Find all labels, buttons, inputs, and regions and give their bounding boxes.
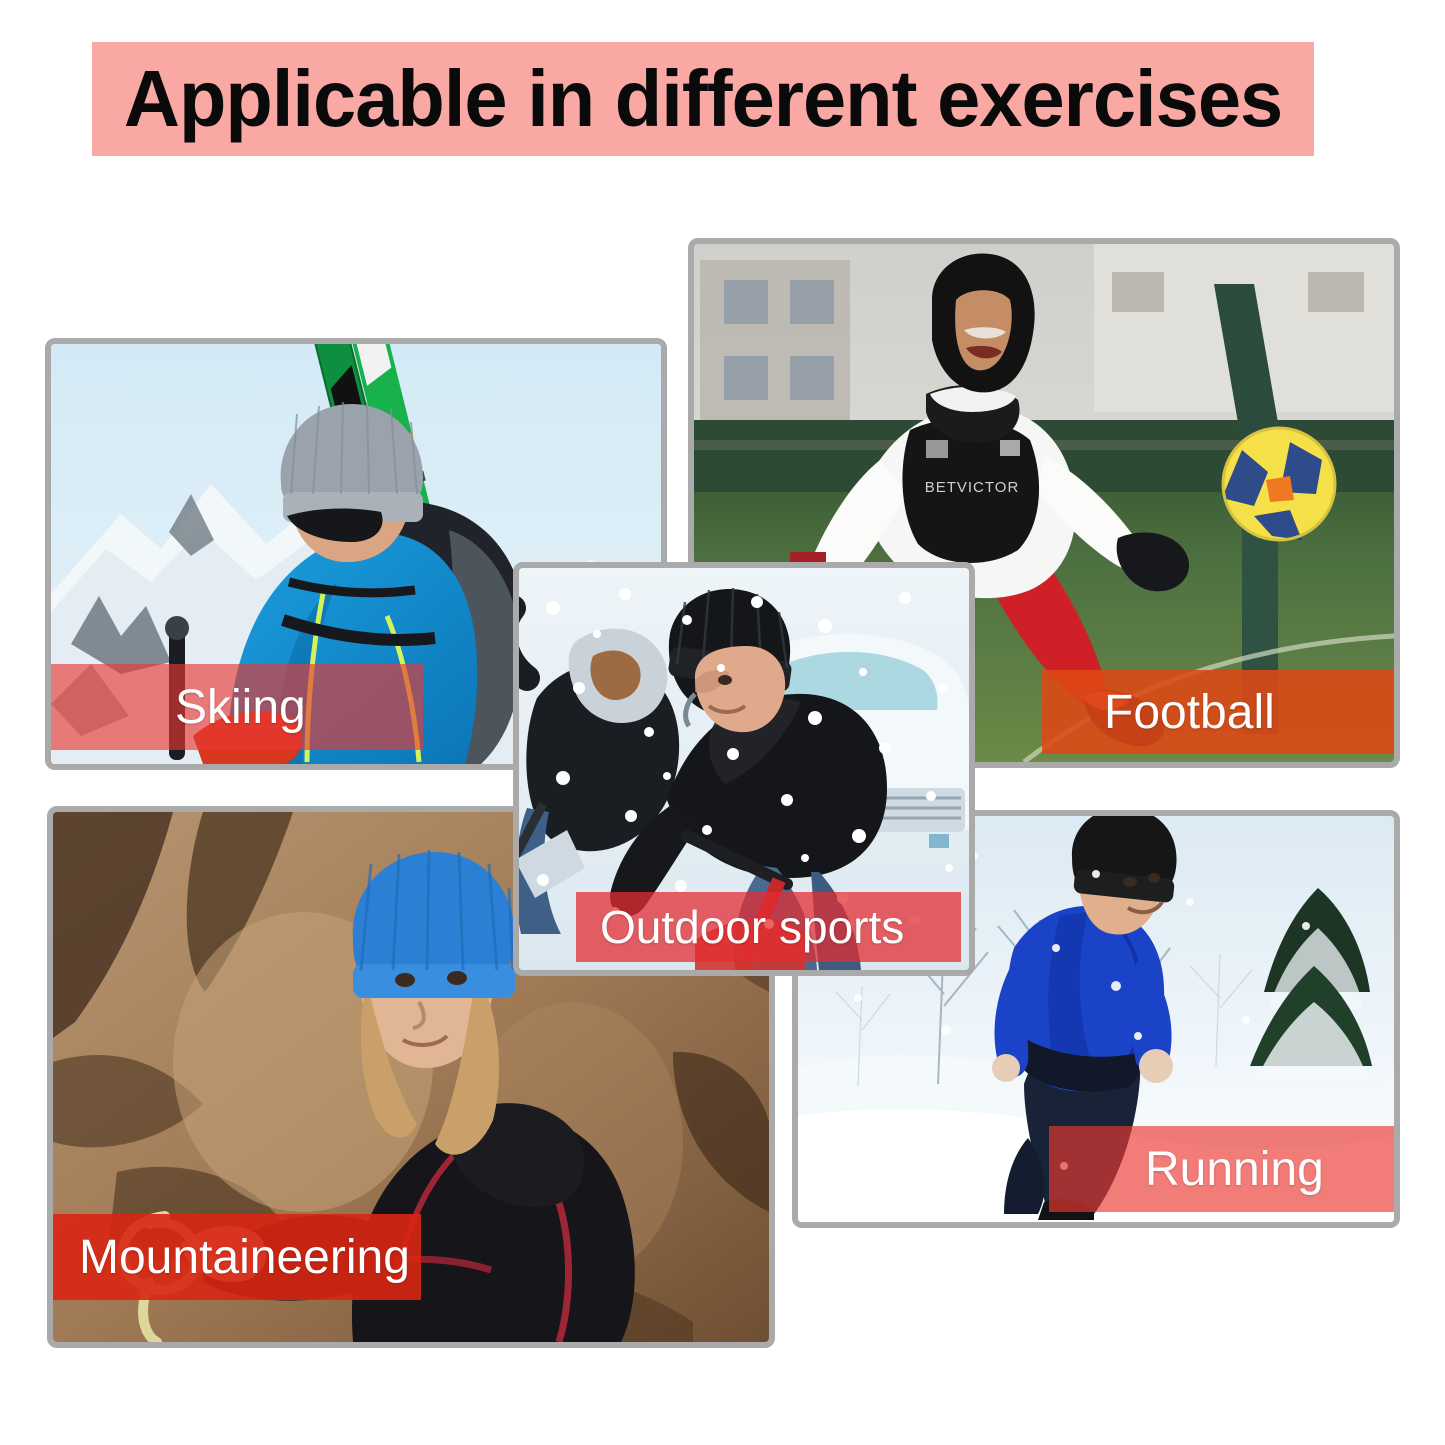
caption-label-mountaineering: Mountaineering: [79, 1230, 410, 1285]
caption-label-football: Football: [1104, 685, 1275, 740]
photo-card-outdoor-sports: Outdoor sports: [513, 562, 975, 976]
caption-football: Football: [1042, 670, 1394, 754]
caption-mountaineering: Mountaineering: [53, 1214, 421, 1300]
title-banner: Applicable in different exercises: [92, 42, 1314, 156]
caption-label-skiing: Skiing: [175, 680, 306, 735]
infographic-canvas: Applicable in different exercises: [0, 0, 1445, 1445]
caption-skiing: Skiing: [51, 664, 423, 750]
page-title: Applicable in different exercises: [124, 59, 1282, 139]
svg-text:BETVICTOR: BETVICTOR: [925, 479, 1020, 496]
caption-label-running: Running: [1145, 1142, 1324, 1197]
caption-outdoor-sports: Outdoor sports: [576, 892, 961, 962]
caption-label-outdoor-sports: Outdoor sports: [600, 900, 904, 954]
caption-running: Running: [1049, 1126, 1394, 1212]
